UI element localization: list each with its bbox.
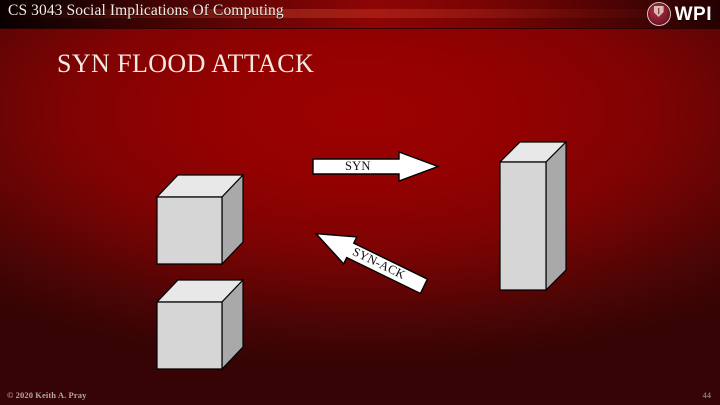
cube-bottom-graphic [150, 273, 246, 377]
server-tower [494, 136, 574, 304]
syn-ack-arrow: SYN-ACK [300, 204, 440, 316]
course-title: CS 3043 Social Implications Of Computing [8, 2, 284, 20]
wpi-logo: WPI [647, 1, 712, 27]
slide-header-bar: CS 3043 Social Implications Of Computing… [0, 0, 720, 28]
wpi-seal-icon [647, 2, 671, 26]
wpi-wordmark: WPI [675, 5, 712, 24]
presentation-slide: CS 3043 Social Implications Of Computing… [0, 0, 720, 405]
syn-arrow-graphic [311, 150, 441, 184]
syn-arrow: SYN [311, 150, 441, 184]
footer-copyright: © 2020 Keith A. Pray [7, 390, 86, 400]
slide-title: SYN FLOOD ATTACK [57, 49, 314, 79]
footer-page-number: 44 [703, 390, 712, 400]
client-cube-top [150, 168, 246, 272]
cube-top-graphic [150, 168, 246, 272]
syn-arrow-label: SYN [345, 159, 371, 174]
client-cube-bottom [150, 273, 246, 377]
server-tower-graphic [494, 136, 574, 304]
